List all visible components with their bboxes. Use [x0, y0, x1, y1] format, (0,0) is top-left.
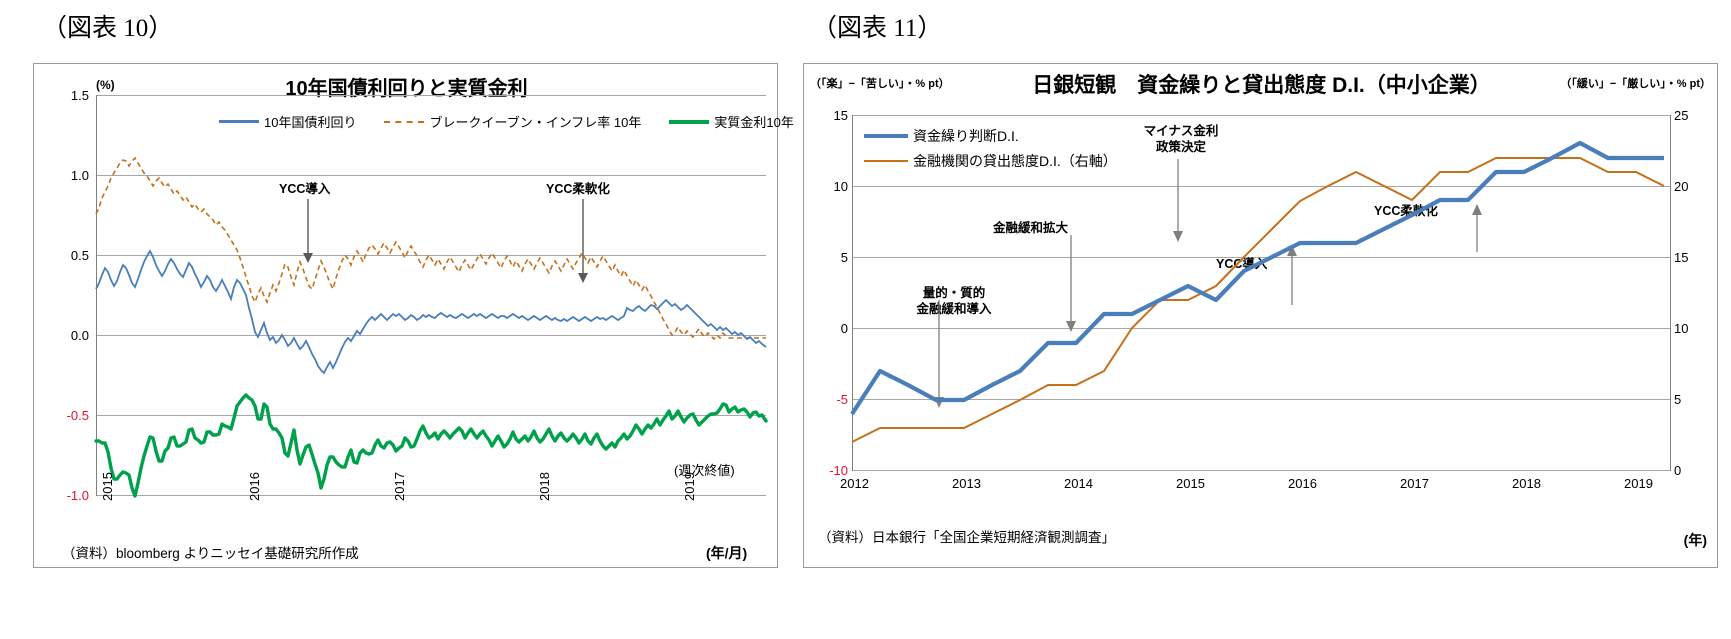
figure-11-plot [852, 115, 1670, 471]
figure-11-caption: （図表 11） [812, 8, 942, 44]
figure-11-chart-area: （「楽」−「苦しい」・% pt） 日銀短観 資金繰りと貸出態度 D.I.（中小企… [804, 64, 1717, 567]
figure-10-source: （資料）bloomberg よりニッセイ基礎研究所作成 [62, 542, 359, 562]
figure-11-x-unit: (年) [1684, 530, 1707, 550]
figure-10-caption: （図表 10） [42, 8, 173, 44]
figure-11-panel: （「楽」−「苦しい」・% pt） 日銀短観 資金繰りと貸出態度 D.I.（中小企… [803, 63, 1718, 568]
figure-10-ytick-m0_5: -0.5 [44, 408, 89, 423]
figure-10-ytick-0_5: 0.5 [44, 248, 89, 263]
series-real10y [96, 395, 766, 496]
figure-11-ytick-right-5: 5 [1674, 392, 1710, 407]
figure-10-chart-area: 10年国債利回りと実質金利 (%) 10年国債利回り ブレークイーブン・インフレ… [34, 64, 777, 567]
figure-11-xtick-2017: 2017 [1400, 476, 1429, 491]
series-lending-di [852, 158, 1664, 442]
series-bei10y [96, 158, 766, 339]
figure-11-xtick-2013: 2013 [952, 476, 981, 491]
figure-10-xtick-2017: 2017 [392, 472, 407, 501]
figure-10-xtick-2018: 2018 [537, 472, 552, 501]
figure-11-ytick-right-15: 15 [1674, 250, 1710, 265]
figure-11-ytick-right-10: 10 [1674, 321, 1710, 336]
figure-10-ytick-1_0: 1.0 [44, 168, 89, 183]
figure-11-ytick-right-20: 20 [1674, 179, 1710, 194]
figure-11-xtick-2019: 2019 [1624, 476, 1653, 491]
figure-11-y-axis-right [1670, 115, 1671, 471]
figure-10-ytick-1_5: 1.5 [44, 88, 89, 103]
figure-10-panel: 10年国債利回りと実質金利 (%) 10年国債利回り ブレークイーブン・インフレ… [33, 63, 778, 568]
figure-11-xtick-2014: 2014 [1064, 476, 1093, 491]
figure-11-ytick-left-m5: -5 [812, 392, 848, 407]
figure-10-x-unit: (年/月) [706, 543, 747, 563]
figures-page: （図表 10） 10年国債利回りと実質金利 (%) 10年国債利回り ブレークイ… [0, 0, 1731, 639]
figure-10-xtick-2016: 2016 [247, 472, 262, 501]
series-funding-di [852, 143, 1664, 414]
figure-10-ytick-0_0: 0.0 [44, 328, 89, 343]
figure-10-plot [96, 95, 766, 496]
figure-11-ytick-right-25: 25 [1674, 108, 1710, 123]
figure-10-xtick-2015: 2015 [100, 472, 115, 501]
figure-10-xtick-2019: 2019 [682, 472, 697, 501]
figure-11-xtick-2015: 2015 [1176, 476, 1205, 491]
figure-11-xtick-2018: 2018 [1512, 476, 1541, 491]
figure-11-ytick-left-0: 0 [812, 321, 848, 336]
figure-11-ytick-right-0: 0 [1674, 463, 1710, 478]
figure-11-xtick-2012: 2012 [840, 476, 869, 491]
figure-11-source: （資料）日本銀行「全国企業短期経済観測調査」 [818, 526, 1115, 546]
series-jgb10y [96, 251, 766, 373]
figure-11-ytick-left-10: 10 [812, 179, 848, 194]
figure-11-ytick-left-15: 15 [812, 108, 848, 123]
figure-10-ytick-m1_0: -1.0 [44, 488, 89, 503]
figure-10-y-unit: (%) [96, 78, 115, 92]
figure-11-xtick-2016: 2016 [1288, 476, 1317, 491]
figure-11-ytick-left-5: 5 [812, 250, 848, 265]
figure-11-right-unit: （「緩い」−「厳しい」・% pt） [1560, 75, 1711, 91]
